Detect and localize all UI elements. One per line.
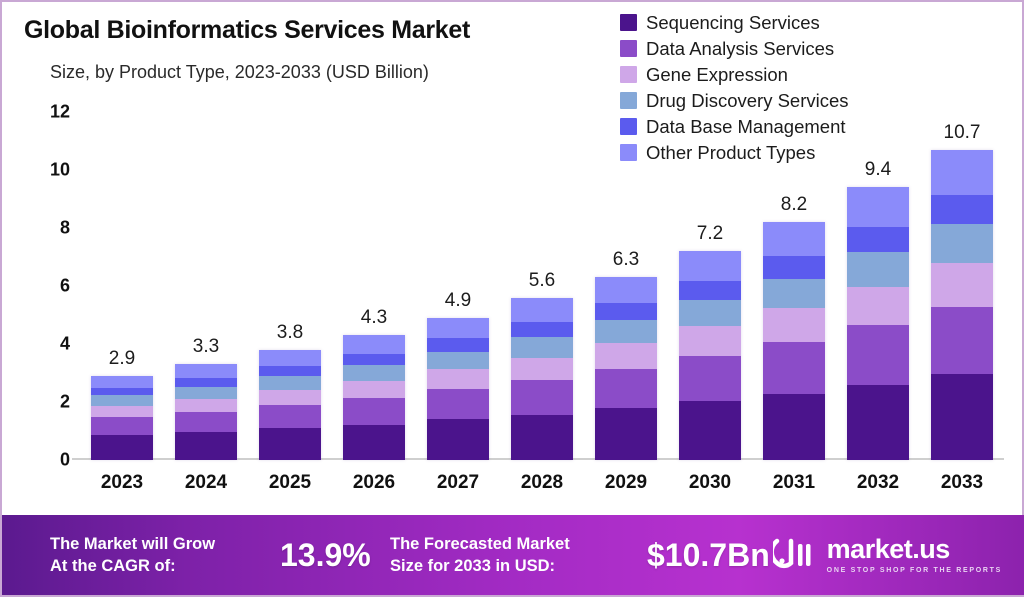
bar-segment[interactable] bbox=[259, 405, 321, 428]
y-axis-tick: 12 bbox=[24, 102, 70, 123]
bar-stack bbox=[175, 364, 237, 460]
bar-segment[interactable] bbox=[931, 150, 993, 195]
bar-value-label: 4.3 bbox=[361, 307, 387, 329]
bar-segment[interactable] bbox=[259, 376, 321, 390]
bar-value-label: 8.2 bbox=[781, 194, 807, 216]
bar-segment[interactable] bbox=[511, 337, 573, 357]
bar-stack bbox=[259, 350, 321, 460]
legend-label: Sequencing Services bbox=[646, 12, 820, 34]
bar-segment[interactable] bbox=[847, 325, 909, 384]
bar-segment[interactable] bbox=[847, 187, 909, 226]
legend-item[interactable]: Data Base Management bbox=[620, 114, 849, 139]
y-axis-tick: 8 bbox=[24, 218, 70, 239]
bar-segment[interactable] bbox=[175, 387, 237, 399]
bar-segment[interactable] bbox=[595, 277, 657, 303]
bar-segment[interactable] bbox=[175, 378, 237, 387]
bar-segment[interactable] bbox=[427, 318, 489, 338]
legend-swatch-icon bbox=[620, 40, 637, 57]
bar-segment[interactable] bbox=[343, 354, 405, 366]
bar-column[interactable]: 3.8 bbox=[248, 112, 332, 460]
bar-value-label: 6.3 bbox=[613, 249, 639, 271]
chart-subtitle: Size, by Product Type, 2023-2033 (USD Bi… bbox=[50, 62, 429, 83]
bar-segment[interactable] bbox=[91, 417, 153, 435]
bar-stack bbox=[847, 187, 909, 460]
bar-segment[interactable] bbox=[595, 303, 657, 320]
bar-value-label: 3.3 bbox=[193, 336, 219, 358]
legend-label: Gene Expression bbox=[646, 64, 788, 86]
bar-segment[interactable] bbox=[175, 432, 237, 460]
logo-name: market.us bbox=[827, 536, 1002, 563]
bar-segment[interactable] bbox=[343, 398, 405, 425]
bar-segment[interactable] bbox=[931, 374, 993, 460]
legend-swatch-icon bbox=[620, 118, 637, 135]
chart-legend: Sequencing ServicesData Analysis Service… bbox=[620, 10, 849, 165]
bar-segment[interactable] bbox=[679, 300, 741, 326]
bar-segment[interactable] bbox=[763, 256, 825, 278]
bar-stack bbox=[91, 376, 153, 460]
bar-segment[interactable] bbox=[931, 195, 993, 224]
bar-segment[interactable] bbox=[931, 224, 993, 263]
bar-column[interactable]: 5.6 bbox=[500, 112, 584, 460]
bar-value-label: 3.8 bbox=[277, 322, 303, 344]
forecast-label-line1: The Forecasted Market bbox=[390, 533, 570, 555]
bar-segment[interactable] bbox=[847, 252, 909, 286]
bar-segment[interactable] bbox=[427, 338, 489, 351]
bar-segment[interactable] bbox=[511, 298, 573, 323]
bar-segment[interactable] bbox=[679, 356, 741, 402]
legend-item[interactable]: Other Product Types bbox=[620, 140, 849, 165]
bar-segment[interactable] bbox=[175, 364, 237, 378]
chart-container: Global Bioinformatics Services Market Si… bbox=[0, 0, 1024, 597]
bar-stack bbox=[931, 150, 993, 460]
cagr-label-block: The Market will Grow At the CAGR of: bbox=[50, 533, 215, 578]
bar-segment[interactable] bbox=[259, 350, 321, 366]
legend-item[interactable]: Data Analysis Services bbox=[620, 36, 849, 61]
x-axis-tick: 2033 bbox=[920, 472, 1004, 494]
x-axis-tick: 2032 bbox=[836, 472, 920, 494]
bar-segment[interactable] bbox=[427, 419, 489, 460]
page-title: Global Bioinformatics Services Market bbox=[24, 16, 470, 45]
legend-item[interactable]: Drug Discovery Services bbox=[620, 88, 849, 113]
bar-segment[interactable] bbox=[763, 394, 825, 460]
y-axis-tick: 4 bbox=[24, 334, 70, 355]
forecast-label-line2: Size for 2033 in USD: bbox=[390, 555, 570, 577]
bar-segment[interactable] bbox=[343, 335, 405, 353]
x-axis: 2023202420252026202720282029203020312032… bbox=[80, 472, 1004, 494]
bar-segment[interactable] bbox=[763, 279, 825, 309]
bar-value-label: 4.9 bbox=[445, 290, 471, 312]
bar-column[interactable]: 3.3 bbox=[164, 112, 248, 460]
y-axis-tick: 2 bbox=[24, 392, 70, 413]
legend-swatch-icon bbox=[620, 14, 637, 31]
legend-label: Other Product Types bbox=[646, 142, 815, 164]
x-axis-tick: 2023 bbox=[80, 472, 164, 494]
legend-label: Data Analysis Services bbox=[646, 38, 834, 60]
bar-segment[interactable] bbox=[511, 322, 573, 337]
cagr-label-line2: At the CAGR of: bbox=[50, 555, 215, 577]
plot-area: 024681012 2.93.33.84.34.95.66.37.28.29.4… bbox=[80, 112, 1004, 460]
x-axis-tick: 2024 bbox=[164, 472, 248, 494]
x-axis-tick: 2027 bbox=[416, 472, 500, 494]
bar-segment[interactable] bbox=[175, 412, 237, 432]
bar-segment[interactable] bbox=[91, 376, 153, 388]
bar-value-label: 5.6 bbox=[529, 270, 555, 292]
logo-text: market.us ONE STOP SHOP FOR THE REPORTS bbox=[827, 536, 1002, 574]
bar-segment[interactable] bbox=[679, 251, 741, 280]
bar-segment[interactable] bbox=[931, 263, 993, 307]
y-axis-tick: 0 bbox=[24, 450, 70, 471]
bar-segment[interactable] bbox=[679, 326, 741, 356]
bar-segment[interactable] bbox=[931, 307, 993, 375]
bar-segment[interactable] bbox=[679, 281, 741, 301]
x-axis-tick: 2029 bbox=[584, 472, 668, 494]
x-axis-tick: 2025 bbox=[248, 472, 332, 494]
bar-stack bbox=[427, 318, 489, 460]
bar-segment[interactable] bbox=[511, 380, 573, 415]
bar-stack bbox=[595, 277, 657, 460]
bar-segment[interactable] bbox=[343, 381, 405, 398]
bar-segment[interactable] bbox=[595, 369, 657, 409]
forecast-label-block: The Forecasted Market Size for 2033 in U… bbox=[390, 533, 570, 578]
bar-segment[interactable] bbox=[175, 399, 237, 412]
bar-segment[interactable] bbox=[847, 287, 909, 326]
footer-banner: The Market will Grow At the CAGR of: 13.… bbox=[2, 515, 1024, 595]
bar-segment[interactable] bbox=[91, 406, 153, 418]
bar-value-label: 2.9 bbox=[109, 348, 135, 370]
bar-segment[interactable] bbox=[91, 435, 153, 460]
bar-segment[interactable] bbox=[91, 388, 153, 396]
bar-segment[interactable] bbox=[595, 343, 657, 369]
legend-item[interactable]: Gene Expression bbox=[620, 62, 849, 87]
brand-logo[interactable]: market.us ONE STOP SHOP FOR THE REPORTS bbox=[773, 536, 1002, 574]
logo-tagline: ONE STOP SHOP FOR THE REPORTS bbox=[827, 567, 1002, 574]
x-axis-tick: 2031 bbox=[752, 472, 836, 494]
bar-segment[interactable] bbox=[511, 358, 573, 381]
y-axis-tick: 10 bbox=[24, 160, 70, 181]
bar-segment[interactable] bbox=[91, 395, 153, 405]
bar-stack bbox=[511, 298, 573, 460]
legend-swatch-icon bbox=[620, 144, 637, 161]
bar-segment[interactable] bbox=[259, 428, 321, 460]
bar-segment[interactable] bbox=[679, 401, 741, 460]
bar-stack bbox=[679, 251, 741, 460]
bar-segment[interactable] bbox=[511, 415, 573, 460]
bar-segment[interactable] bbox=[763, 308, 825, 342]
bar-segment[interactable] bbox=[343, 365, 405, 380]
bar-segment[interactable] bbox=[343, 425, 405, 460]
bar-segment[interactable] bbox=[847, 227, 909, 253]
legend-label: Data Base Management bbox=[646, 116, 846, 138]
bar-segment[interactable] bbox=[847, 385, 909, 460]
legend-item[interactable]: Sequencing Services bbox=[620, 10, 849, 35]
x-axis-tick: 2026 bbox=[332, 472, 416, 494]
bar-segment[interactable] bbox=[259, 390, 321, 405]
bar-value-label: 10.7 bbox=[944, 122, 981, 144]
bar-column[interactable]: 9.4 bbox=[836, 112, 920, 460]
x-axis-tick: 2028 bbox=[500, 472, 584, 494]
forecast-value: $10.7Bn bbox=[647, 537, 770, 574]
legend-swatch-icon bbox=[620, 66, 637, 83]
cagr-label-line1: The Market will Grow bbox=[50, 533, 215, 555]
bar-stack bbox=[343, 335, 405, 460]
bar-segment[interactable] bbox=[427, 389, 489, 419]
bar-column[interactable]: 4.9 bbox=[416, 112, 500, 460]
bar-value-label: 9.4 bbox=[865, 159, 891, 181]
bar-stack bbox=[763, 222, 825, 460]
bar-group: 2.93.33.84.34.95.66.37.28.29.410.7 bbox=[80, 112, 1004, 460]
legend-label: Drug Discovery Services bbox=[646, 90, 849, 112]
bar-segment[interactable] bbox=[763, 342, 825, 394]
bar-value-label: 7.2 bbox=[697, 223, 723, 245]
bar-column[interactable]: 2.9 bbox=[80, 112, 164, 460]
bar-segment[interactable] bbox=[427, 352, 489, 370]
bar-segment[interactable] bbox=[763, 222, 825, 256]
bar-segment[interactable] bbox=[595, 320, 657, 343]
y-axis-tick: 6 bbox=[24, 276, 70, 297]
bar-column[interactable]: 10.7 bbox=[920, 112, 1004, 460]
cagr-value: 13.9% bbox=[280, 537, 371, 574]
bar-column[interactable]: 4.3 bbox=[332, 112, 416, 460]
x-axis-tick: 2030 bbox=[668, 472, 752, 494]
legend-swatch-icon bbox=[620, 92, 637, 109]
market-us-mark-icon bbox=[773, 537, 817, 573]
bar-segment[interactable] bbox=[595, 408, 657, 460]
bar-segment[interactable] bbox=[427, 369, 489, 389]
bar-segment[interactable] bbox=[259, 366, 321, 376]
